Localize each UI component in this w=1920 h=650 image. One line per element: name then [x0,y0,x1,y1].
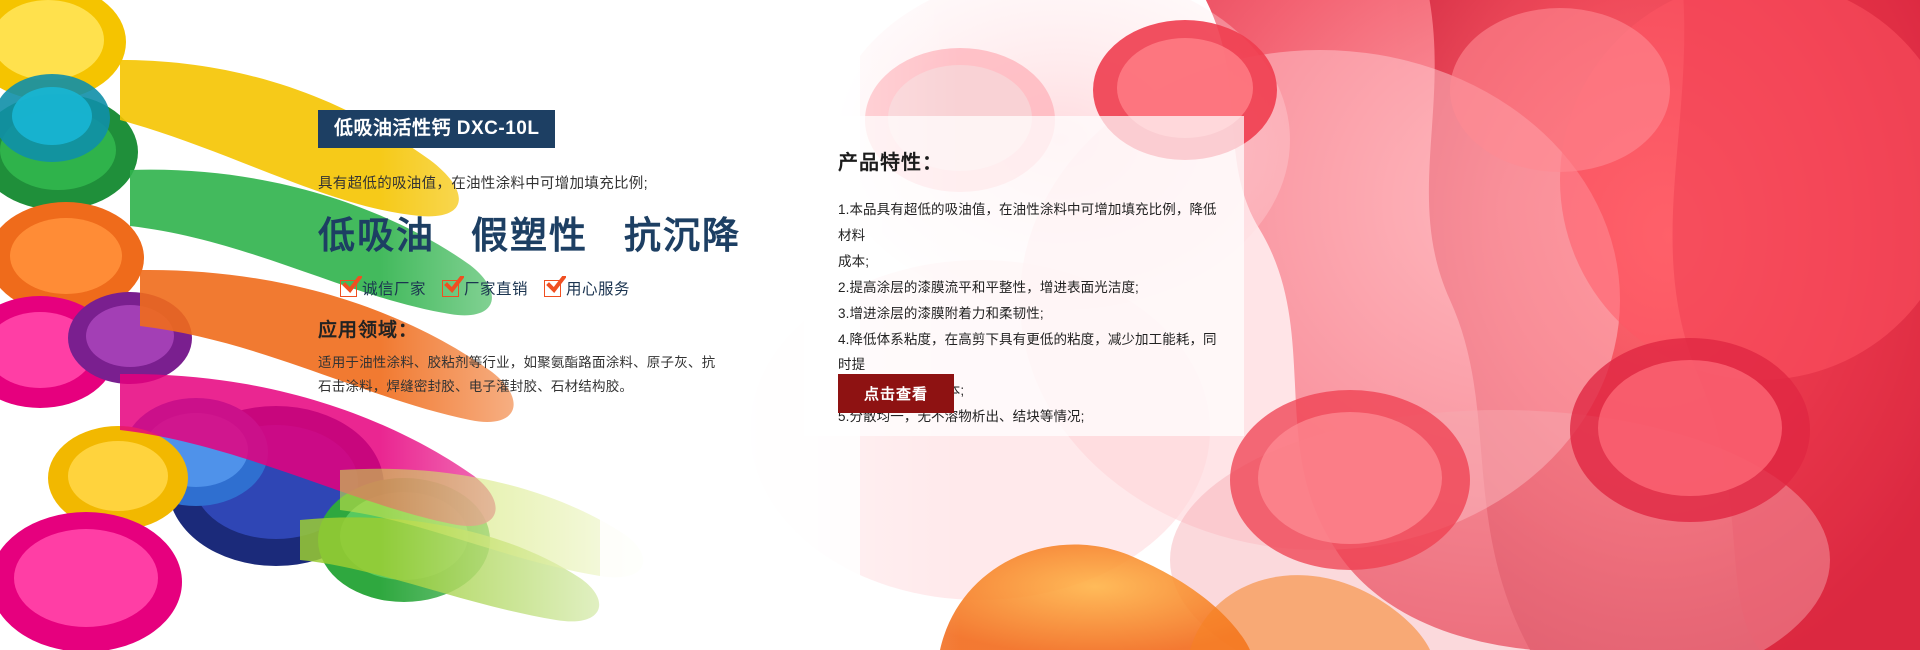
keyword-item: 假塑性 [471,205,588,259]
feature-line: 1.本品具有超低的吸油值，在油性涂料中可增加填充比例，降低材料 [838,197,1218,249]
trust-badge-label: 厂家直销 [464,277,528,299]
trust-badge-item: 厂家直销 [442,277,528,299]
checkbox-checked-icon [544,280,561,297]
product-tagline: 具有超低的吸油值，在油性涂料中可增加填充比例; [318,172,738,193]
checkbox-checked-icon [442,280,459,297]
product-banner: 低吸油活性钙 DXC-10L 具有超低的吸油值，在油性涂料中可增加填充比例; 低… [0,0,1920,650]
left-content-block: 低吸油活性钙 DXC-10L 具有超低的吸油值，在油性涂料中可增加填充比例; 低… [318,110,738,398]
check-mark-icon [546,276,566,294]
trust-badge-label: 诚信厂家 [362,277,426,299]
check-mark-icon [342,276,362,294]
view-details-button[interactable]: 点击查看 [838,374,954,413]
check-mark-icon [444,276,464,294]
product-title-badge: 低吸油活性钙 DXC-10L [318,110,555,148]
keyword-item: 低吸油 [318,205,435,259]
trust-badge-list: 诚信厂家 厂家直销 用心服务 [340,277,738,299]
feature-line: 成本; [838,249,1218,275]
application-section-description: 适用于油性涂料、胶粘剂等行业，如聚氨酯路面涂料、原子灰、抗石击涂料，焊缝密封胶、… [318,351,718,398]
trust-badge-item: 诚信厂家 [340,277,426,299]
product-features-panel: 产品特性： 1.本品具有超低的吸油值，在油性涂料中可增加填充比例，降低材料 成本… [804,116,1244,436]
feature-line: 2.提高涂层的漆膜流平和平整性，增进表面光洁度; [838,275,1218,301]
trust-badge-item: 用心服务 [544,277,630,299]
keyword-list: 低吸油 假塑性 抗沉降 [318,205,738,259]
trust-badge-label: 用心服务 [566,277,630,299]
feature-line: 4.降低体系粘度，在高剪下具有更低的粘度，减少加工能耗，同时提 [838,327,1218,379]
feature-line: 3.增进涂层的漆膜附着力和柔韧性; [838,301,1218,327]
checkbox-checked-icon [340,280,357,297]
keyword-item: 抗沉降 [624,205,741,259]
features-panel-title: 产品特性： [838,146,1218,175]
application-section-title: 应用领域： [318,315,738,342]
